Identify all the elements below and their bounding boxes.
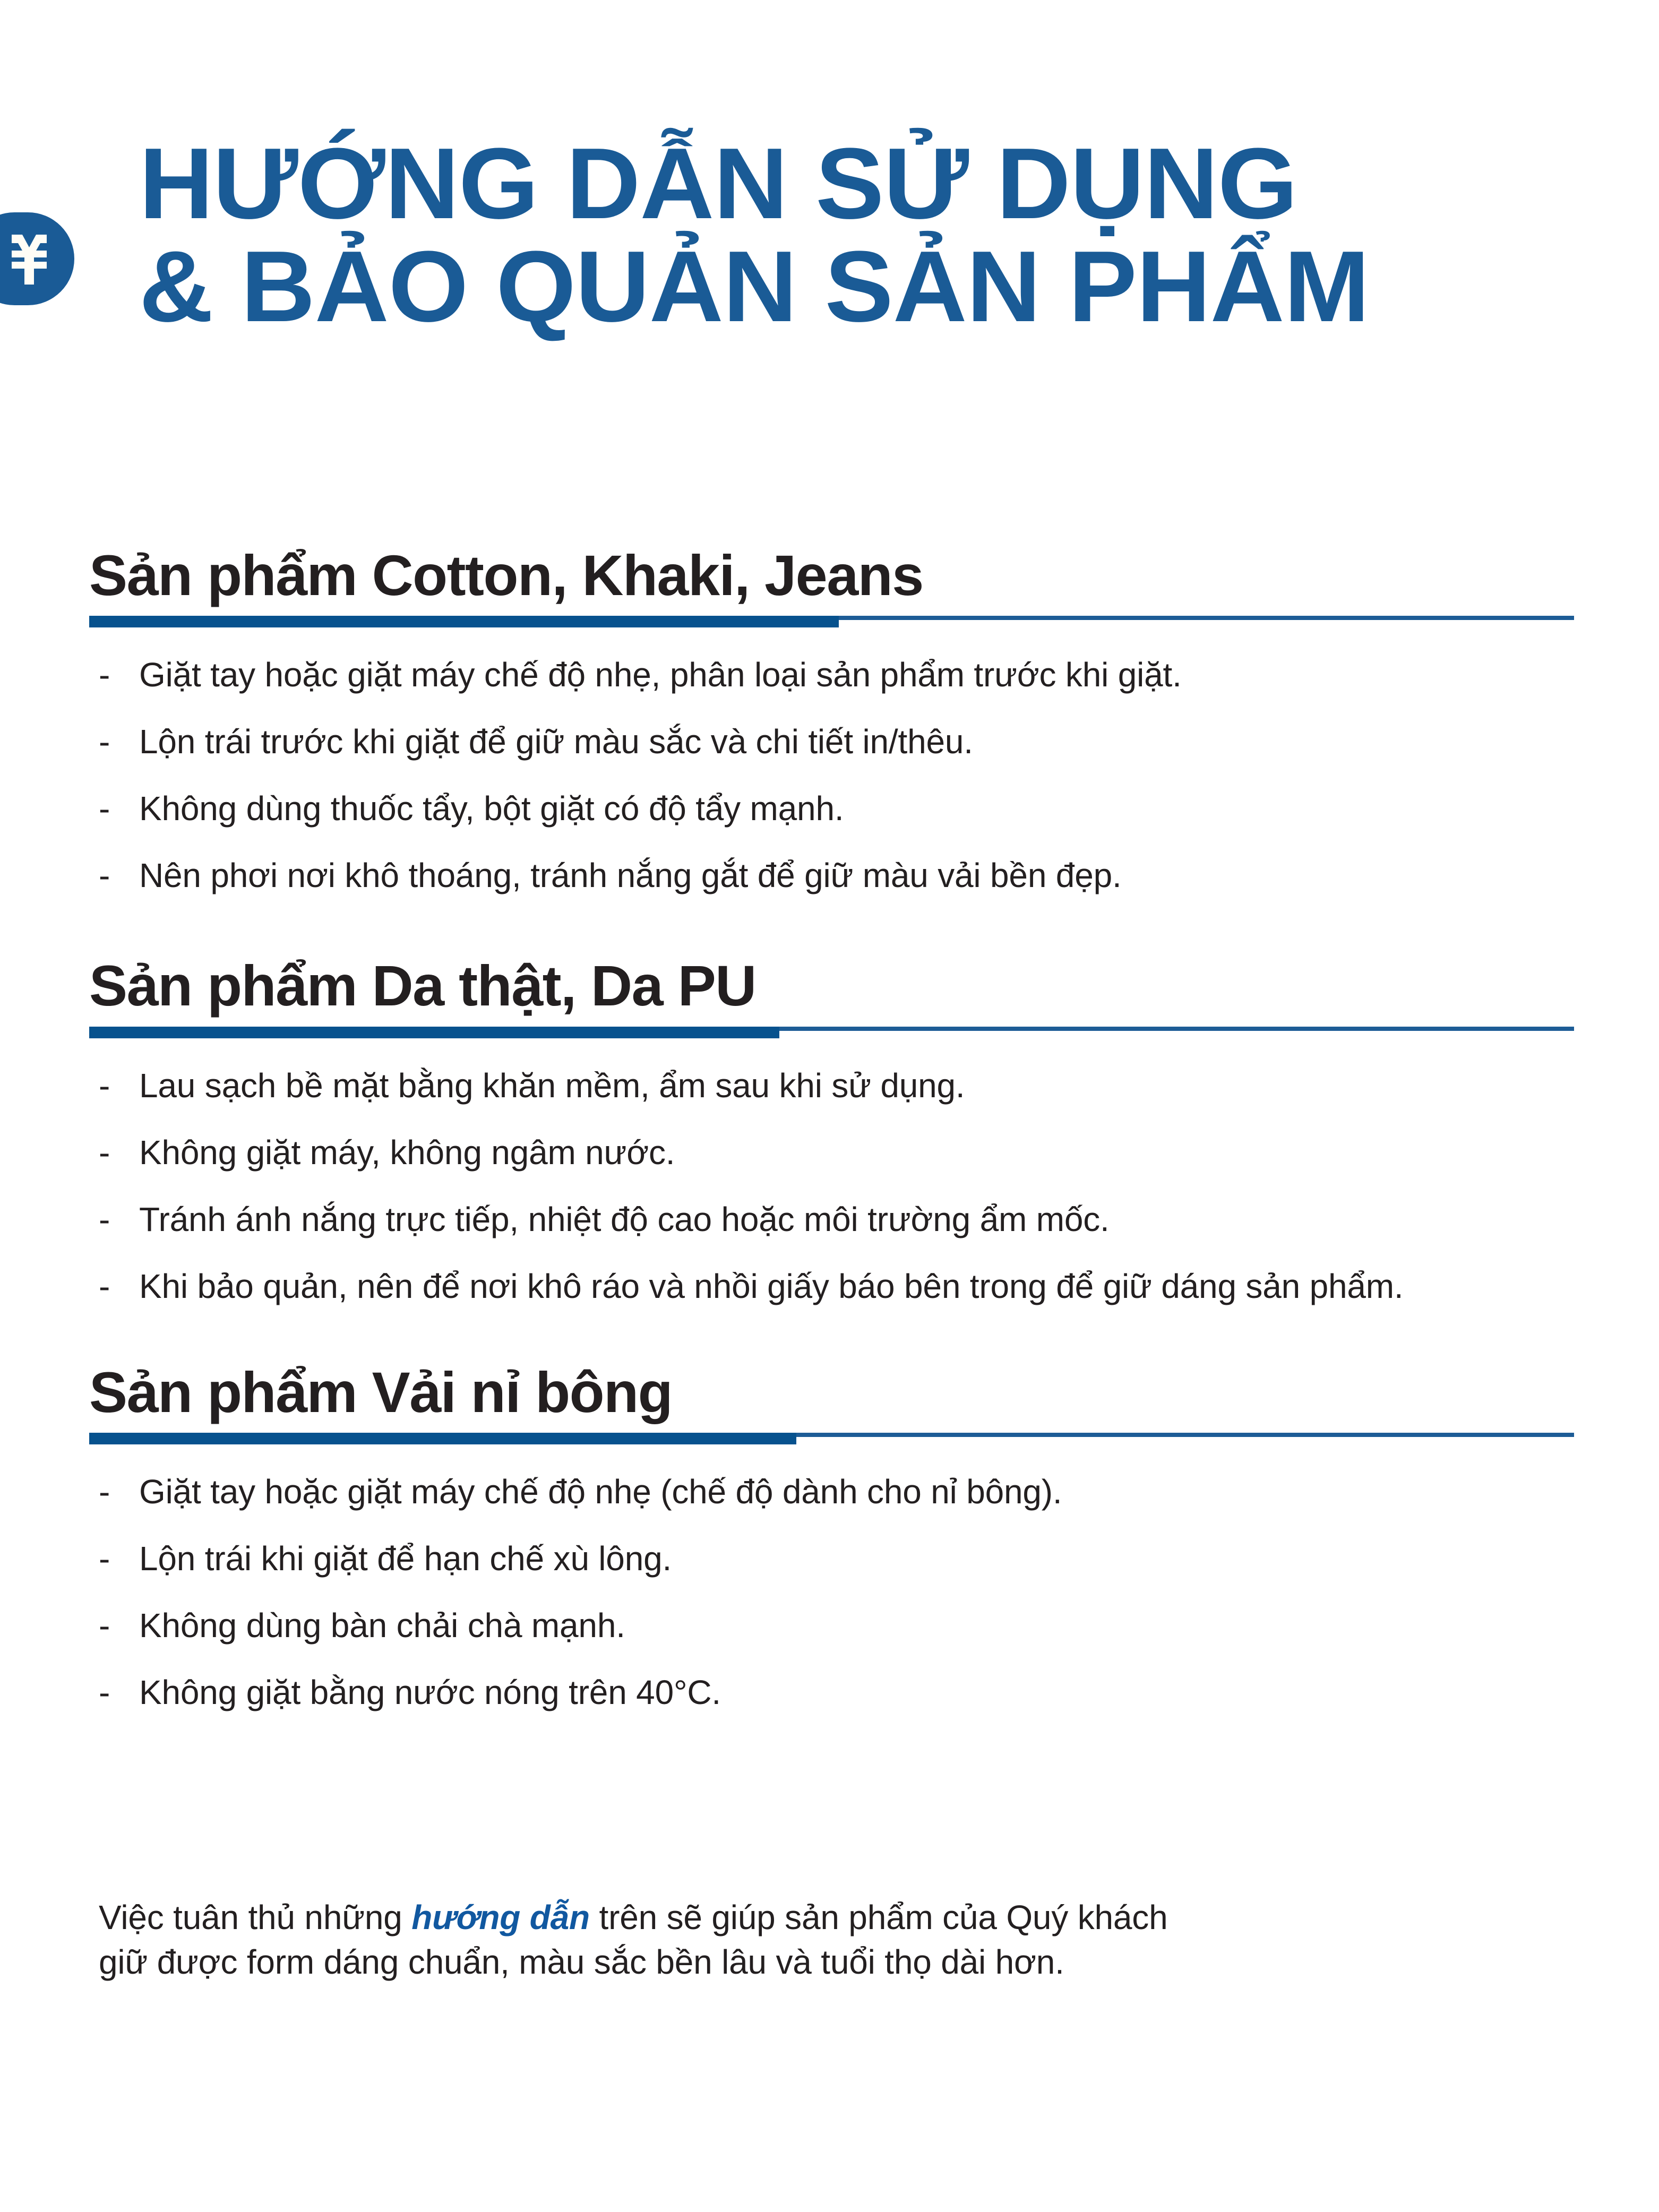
bullet-dash-icon: - — [99, 1135, 139, 1169]
list-item: - Giặt tay hoặc giặt máy chế độ nhẹ, phâ… — [0, 658, 1659, 692]
page-title-line-1: HƯỚNG DẪN SỬ DỤNG — [139, 133, 1601, 236]
section-cotton-khaki-jeans: Sản phẩm Cotton, Khaki, Jeans - Giặt tay… — [0, 541, 1659, 892]
section-underline-thick — [89, 1433, 796, 1444]
section-heading: Sản phẩm Da thật, Da PU — [0, 952, 1659, 1019]
section-underline — [89, 1024, 1574, 1036]
list-item-label: Giặt tay hoặc giặt máy chế độ nhẹ (chế đ… — [139, 1475, 1659, 1509]
closing-highlight: hướng dẫn — [411, 1898, 590, 1936]
list-item-label: Lau sạch bề mặt bằng khăn mềm, ẩm sau kh… — [139, 1069, 1659, 1103]
closing-note-line-1: Việc tuân thủ những hướng dẫn trên sẽ gi… — [99, 1895, 1532, 1940]
list-item: - Không giặt bằng nước nóng trên 40°C. — [0, 1675, 1659, 1709]
section-underline-thick — [89, 616, 839, 627]
list-item: - Tránh ánh nắng trực tiếp, nhiệt độ cao… — [0, 1202, 1659, 1236]
list-item-label: Không dùng bàn chải chà mạnh. — [139, 1608, 1659, 1642]
bullet-dash-icon: - — [99, 1675, 139, 1709]
bullet-dash-icon: - — [99, 658, 139, 692]
list-item: - Lau sạch bề mặt bằng khăn mềm, ẩm sau … — [0, 1069, 1659, 1103]
bullet-dash-icon: - — [99, 725, 139, 759]
bullet-list: - Lau sạch bề mặt bằng khăn mềm, ẩm sau … — [0, 1069, 1659, 1303]
section-underline — [89, 1430, 1574, 1442]
section-fleece-fabric: Sản phẩm Vải nỉ bông - Giặt tay hoặc giặ… — [0, 1303, 1659, 1709]
bullet-dash-icon: - — [99, 1475, 139, 1509]
section-heading: Sản phẩm Cotton, Khaki, Jeans — [0, 541, 1659, 609]
list-item-label: Nên phơi nơi khô thoáng, tránh nắng gắt … — [139, 858, 1659, 892]
list-item: - Lộn trái trước khi giặt để giữ màu sắc… — [0, 725, 1659, 759]
closing-note-line-2: giữ được form dáng chuẩn, màu sắc bền lâ… — [99, 1940, 1532, 1984]
list-item-label: Không giặt bằng nước nóng trên 40°C. — [139, 1675, 1659, 1709]
yen-badge-icon — [0, 234, 50, 285]
list-item-label: Không dùng thuốc tẩy, bột giặt có độ tẩy… — [139, 791, 1659, 825]
list-item-label: Lộn trái khi giặt để hạn chế xù lông. — [139, 1542, 1659, 1576]
page-title: HƯỚNG DẪN SỬ DỤNG & BẢO QUẢN SẢN PHẨM — [139, 133, 1572, 339]
list-item: - Khi bảo quản, nên để nơi khô ráo và nh… — [0, 1269, 1659, 1303]
bullet-dash-icon: - — [99, 1202, 139, 1236]
bullet-dash-icon: - — [99, 1069, 139, 1103]
list-item: - Không dùng bàn chải chà mạnh. — [0, 1608, 1659, 1642]
bullet-list: - Giặt tay hoặc giặt máy chế độ nhẹ, phâ… — [0, 658, 1659, 892]
bullet-dash-icon: - — [99, 858, 139, 892]
list-item: - Không giặt máy, không ngâm nước. — [0, 1135, 1659, 1169]
list-item-label: Không giặt máy, không ngâm nước. — [139, 1135, 1659, 1169]
bullet-dash-icon: - — [99, 1542, 139, 1576]
care-guide-sections: Sản phẩm Cotton, Khaki, Jeans - Giặt tay… — [0, 541, 1659, 1709]
list-item-label: Tránh ánh nắng trực tiếp, nhiệt độ cao h… — [139, 1202, 1659, 1236]
section-heading: Sản phẩm Vải nỉ bông — [0, 1358, 1659, 1426]
list-item-label: Lộn trái trước khi giặt để giữ màu sắc v… — [139, 725, 1659, 759]
list-item: - Lộn trái khi giặt để hạn chế xù lông. — [0, 1542, 1659, 1576]
list-item: - Nên phơi nơi khô thoáng, tránh nắng gắ… — [0, 858, 1659, 892]
bullet-dash-icon: - — [99, 1269, 139, 1303]
closing-note: Việc tuân thủ những hướng dẫn trên sẽ gi… — [99, 1895, 1532, 1985]
section-underline — [89, 613, 1574, 625]
closing-text-after: trên sẽ giúp sản phẩm của Quý khách — [590, 1898, 1168, 1936]
list-item-label: Giặt tay hoặc giặt máy chế độ nhẹ, phân … — [139, 658, 1659, 692]
bullet-dash-icon: - — [99, 1608, 139, 1642]
page-header: HƯỚNG DẪN SỬ DỤNG & BẢO QUẢN SẢN PHẨM — [0, 0, 1659, 467]
section-underline-thick — [89, 1027, 779, 1038]
bullet-dash-icon: - — [99, 791, 139, 825]
list-item: - Giặt tay hoặc giặt máy chế độ nhẹ (chế… — [0, 1475, 1659, 1509]
closing-text-before: Việc tuân thủ những — [99, 1898, 411, 1936]
list-item-label: Khi bảo quản, nên để nơi khô ráo và nhồi… — [139, 1269, 1659, 1303]
brand-logo-badge — [0, 212, 74, 305]
bullet-list: - Giặt tay hoặc giặt máy chế độ nhẹ (chế… — [0, 1475, 1659, 1709]
page-title-line-2: & BẢO QUẢN SẢN PHẨM — [139, 236, 1601, 339]
section-leather-pu: Sản phẩm Da thật, Da PU - Lau sạch bề mặ… — [0, 892, 1659, 1303]
list-item: - Không dùng thuốc tẩy, bột giặt có độ t… — [0, 791, 1659, 825]
